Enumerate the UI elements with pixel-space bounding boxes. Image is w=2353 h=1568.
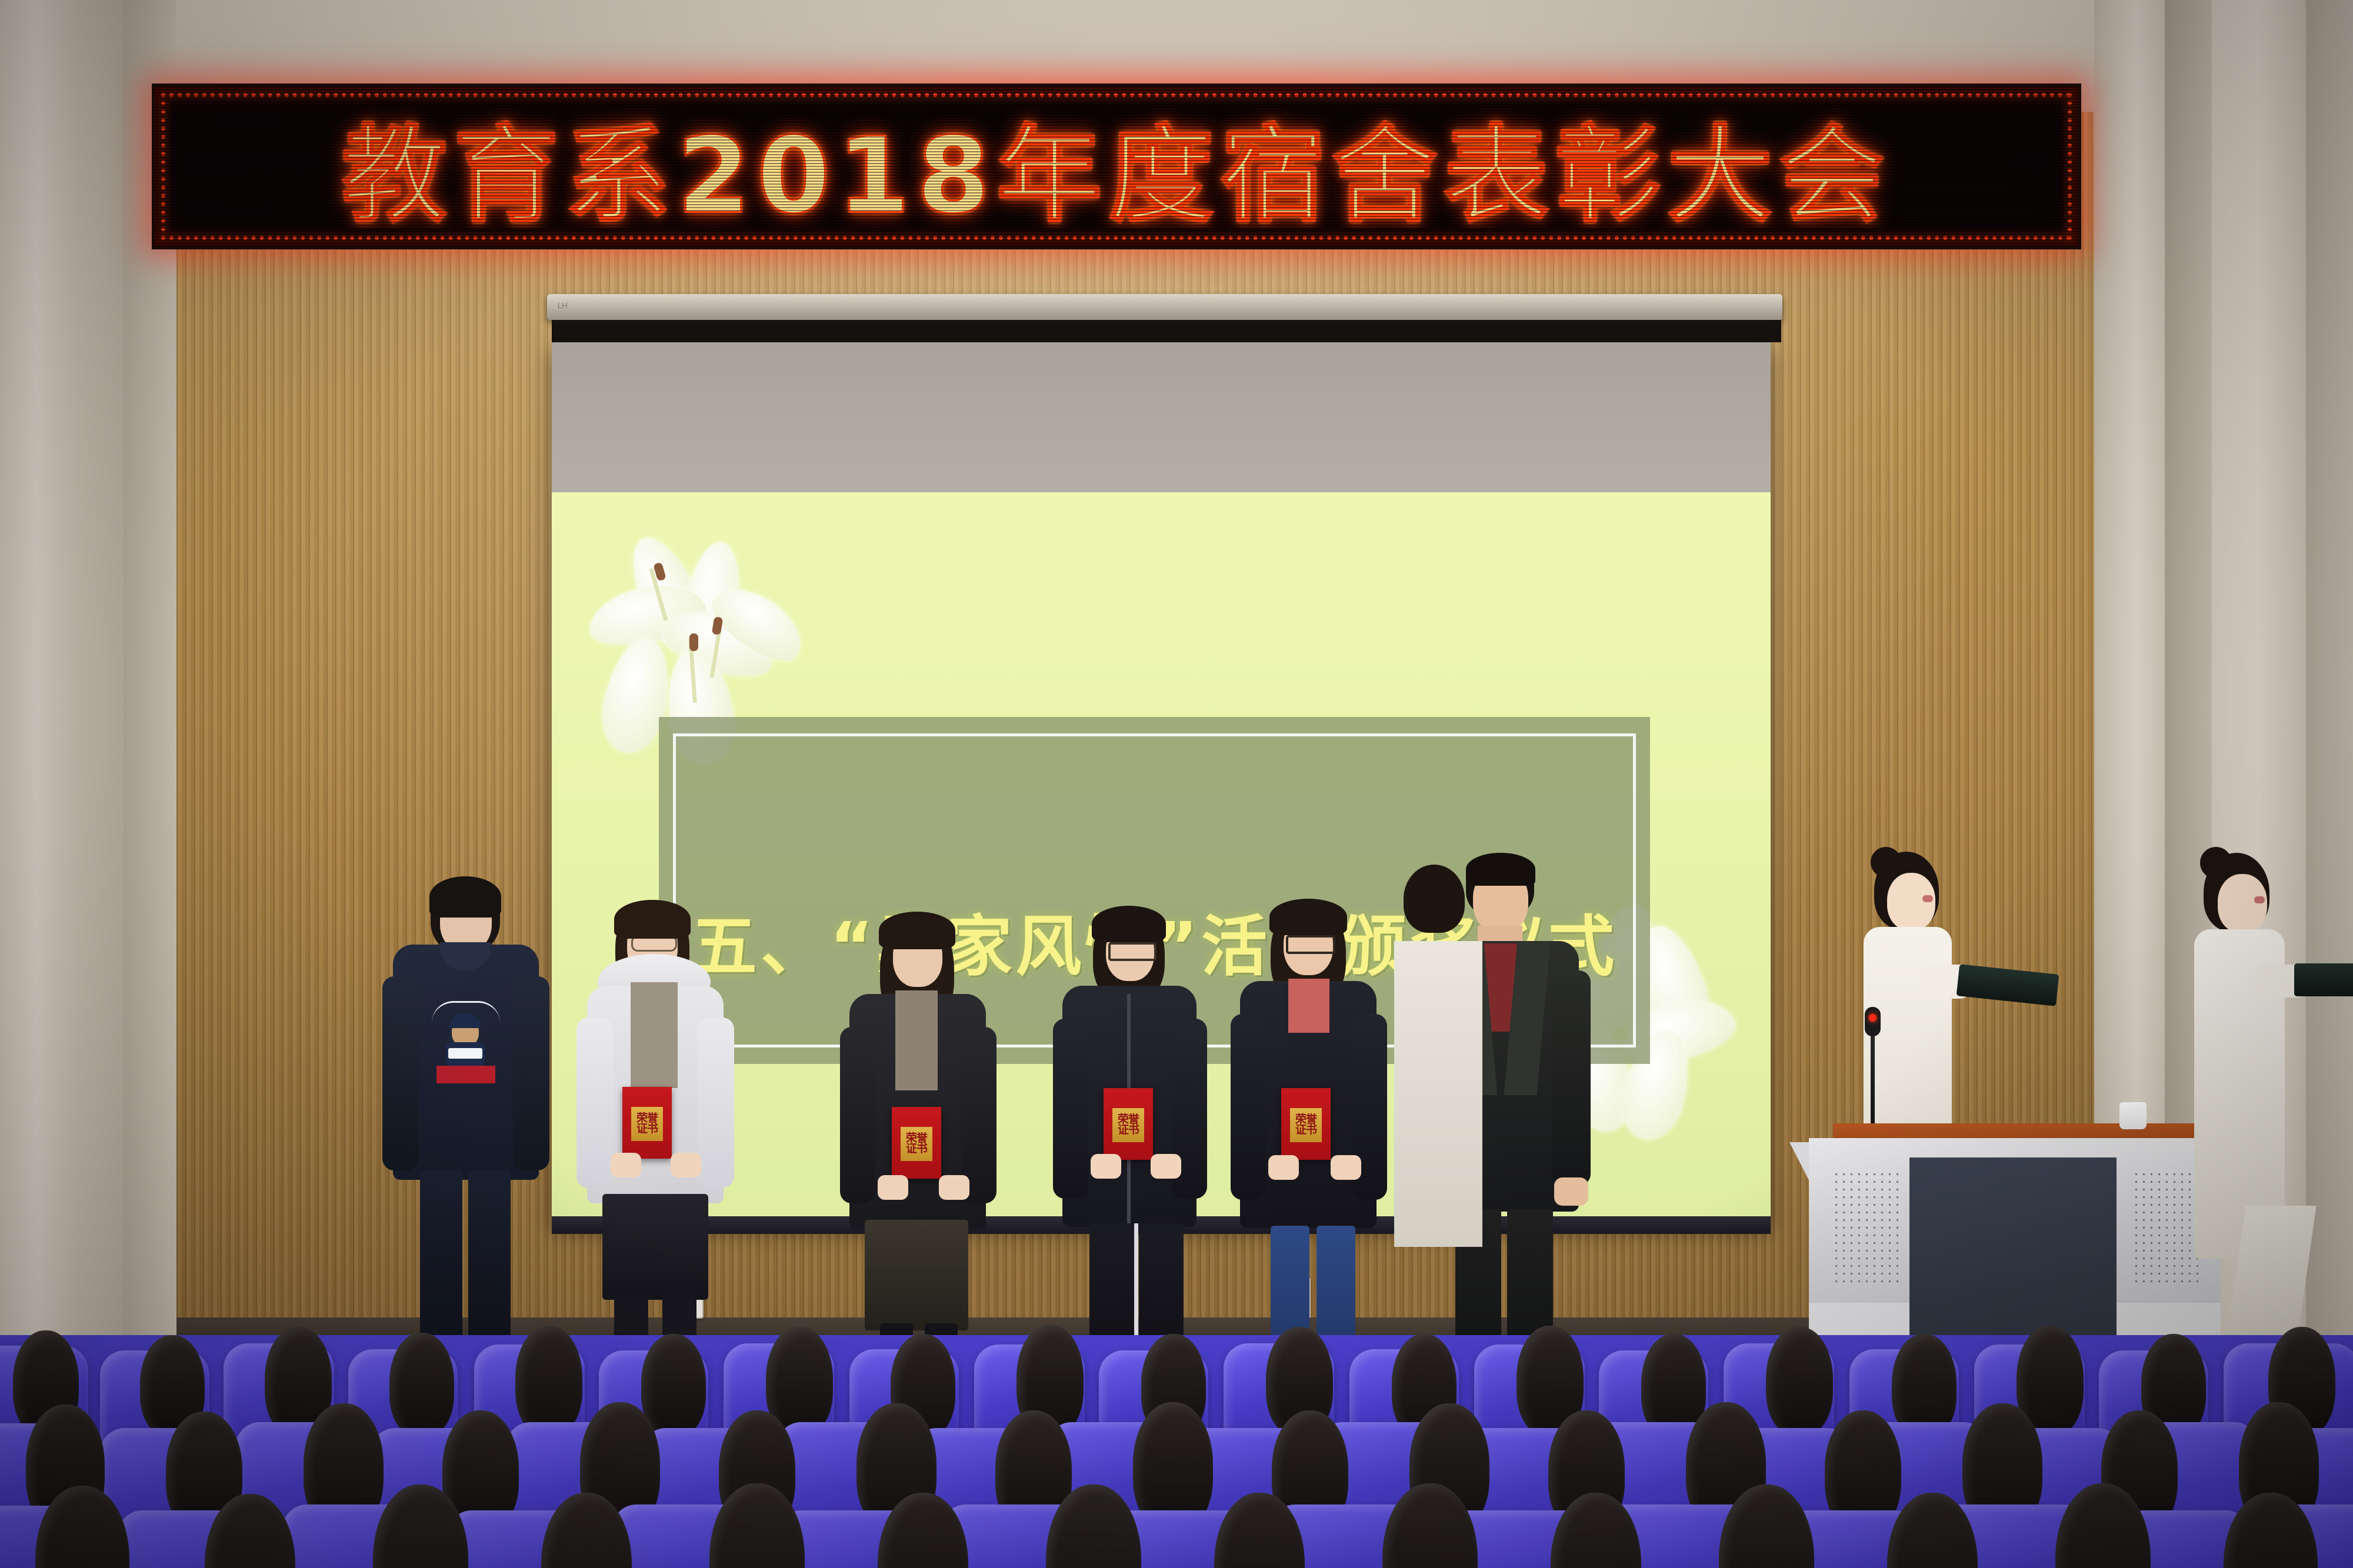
stage-person-awardee-4: 荣誉证书: [1212, 899, 1400, 1381]
projector-screen-case-label: LH: [558, 301, 568, 310]
wall-pilaster-left-1: [0, 0, 124, 1365]
certificate-seal: 荣誉证书: [631, 1107, 663, 1141]
audience-area: [0, 1335, 2353, 1568]
eyeglasses: [1108, 942, 1156, 961]
audience-head: [389, 1333, 454, 1436]
projector-screen-top-bar: [552, 320, 1781, 342]
audience-head: [1766, 1327, 1833, 1435]
audience-head: [641, 1334, 706, 1436]
stage-person-hidden-hostess: [1382, 865, 1488, 1312]
certificate-seal: 荣誉证书: [1112, 1108, 1144, 1142]
certificate-seal: 荣誉证书: [901, 1127, 932, 1161]
certificate-awardee-3: 荣誉证书: [1104, 1088, 1153, 1160]
led-banner: 教育系2018年度宿舍表彰大会: [152, 84, 2081, 249]
stage-person-student-host-left: [365, 876, 559, 1365]
hostess-right: [2171, 847, 2347, 1353]
podium-speaker-grille-left: [1832, 1170, 1903, 1282]
stage-person-awardee-2: 荣誉证书: [824, 912, 1006, 1382]
stage-person-awardee-1: 荣誉证书: [553, 900, 747, 1370]
hair-bun: [1871, 847, 1901, 878]
ceremony-tray: [2294, 963, 2353, 996]
microphone-led-indicator: [1869, 1014, 1877, 1022]
eyeglasses: [1286, 935, 1335, 954]
podium-microphone-head: [1865, 1007, 1881, 1036]
certificate-awardee-2: 荣誉证书: [892, 1107, 941, 1179]
certificate-awardee-4: 荣誉证书: [1281, 1088, 1331, 1160]
hair-bun: [2200, 847, 2232, 879]
led-banner-text-area: 教育系2018年度宿舍表彰大会: [172, 104, 2061, 229]
certificate-awardee-1: 荣誉证书: [622, 1087, 672, 1159]
stage-person-awardee-3: 荣誉证书: [1035, 906, 1218, 1382]
projector-screen-case: [547, 294, 1782, 320]
led-banner-text: 教育系2018年度宿舍表彰大会: [342, 104, 1891, 229]
hoodie-graphic-fila: [428, 1001, 504, 1089]
auditorium-photo: 教育系2018年度宿舍表彰大会 LH: [0, 0, 2353, 1568]
slide-top-band: [552, 342, 1771, 492]
audience-head: [515, 1326, 582, 1435]
podium-water-cup: [2119, 1102, 2147, 1129]
certificate-seal: 荣誉证书: [1290, 1108, 1322, 1142]
